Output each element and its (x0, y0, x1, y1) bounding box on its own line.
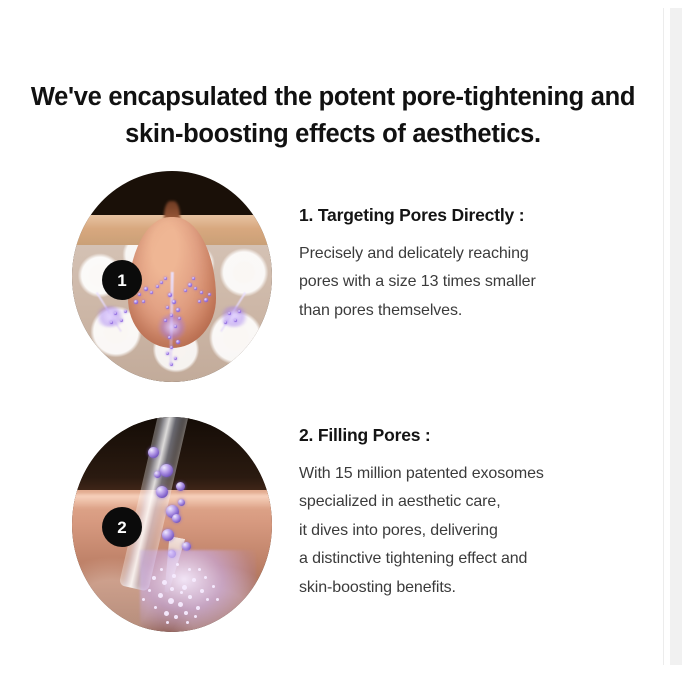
exosome-particle (168, 293, 172, 297)
exosome-particle (170, 363, 173, 366)
exosome-particle (164, 319, 167, 322)
step-2-body-line: it dives into pores, delivering (299, 517, 629, 545)
exosome-particle (198, 300, 201, 303)
step-1-title: 1. Targeting Pores Directly : (299, 205, 629, 226)
spray-particle (172, 574, 176, 578)
page-edge-divider (663, 8, 664, 665)
step-1-badge: 1 (102, 260, 142, 300)
step-1-media: 1 (72, 171, 272, 382)
step-2-badge: 2 (102, 507, 142, 547)
spray-particle (142, 598, 145, 601)
spray-particle (196, 606, 200, 610)
spray-particle (152, 576, 156, 580)
exosome-particle (144, 287, 148, 291)
exosome-particle (156, 285, 159, 288)
exosome-particle (170, 346, 173, 349)
step-2-body-line: With 15 million patented exosomes (299, 460, 629, 488)
step-1-body: Precisely and delicately reaching pores … (299, 240, 629, 325)
exosome-particle (178, 317, 181, 320)
exosome-particle (164, 277, 167, 280)
spray-particle (200, 589, 204, 593)
exosome-particle (138, 293, 141, 296)
step-1-body-line: pores with a size 13 times smaller (299, 268, 629, 296)
exosome-particle (188, 283, 192, 287)
spray-particle (198, 568, 201, 571)
exosome-particle (124, 310, 127, 313)
spray-particle (166, 621, 169, 624)
step-2-body-line: skin-boosting benefits. (299, 574, 629, 602)
exosome-particle (174, 357, 177, 360)
spray-particle (148, 589, 151, 592)
exosome-particle (120, 319, 123, 322)
exosome-particle (160, 281, 163, 284)
exosome-particle (228, 312, 231, 315)
spray-particle (174, 615, 178, 619)
step-2-body-line: a distinctive tightening effect and (299, 545, 629, 573)
spray-particle (168, 598, 174, 604)
exosome-particle (238, 310, 241, 313)
spray-particle (162, 580, 167, 585)
spray-particle (204, 576, 207, 579)
step-2-body-line: specialized in aesthetic care, (299, 488, 629, 516)
spray-particle (164, 611, 169, 616)
spray-particle (160, 568, 163, 571)
page-root: We've encapsulated the potent pore-tight… (0, 0, 682, 682)
spray-particle (206, 598, 209, 601)
exosome-particle (204, 298, 208, 302)
exosome-particle (184, 289, 187, 292)
step-1-text: 1. Targeting Pores Directly : Precisely … (299, 205, 629, 325)
exosome-particle (134, 300, 138, 304)
step-1-body-line: than pores themselves. (299, 297, 629, 325)
spray-particle (176, 563, 179, 566)
spray-particle (154, 606, 157, 609)
spray-particle (158, 593, 163, 598)
step-2-body: With 15 million patented exosomes specia… (299, 460, 629, 602)
exosome-particle (174, 325, 177, 328)
exosome-particle (170, 314, 173, 317)
exosome-particle (168, 336, 171, 339)
exosome-particle (194, 287, 197, 290)
page-edge-strip (670, 8, 682, 665)
exosome-particle (224, 321, 227, 324)
exosome-particle (114, 312, 117, 315)
exosome-particle (142, 300, 145, 303)
spray-particle (192, 578, 196, 582)
spray-particle (212, 585, 215, 588)
exosome-particle (110, 321, 113, 324)
exosome-particle (176, 308, 180, 312)
exosome-particle (192, 277, 195, 280)
step-2-text: 2. Filling Pores : With 15 million paten… (299, 425, 629, 602)
exosome-particle (166, 306, 169, 309)
spray-particle (180, 591, 183, 594)
spray-particle (188, 595, 192, 599)
page-headline: We've encapsulated the potent pore-tight… (18, 79, 648, 153)
step-1-body-line: Precisely and delicately reaching (299, 240, 629, 268)
spray-particle (194, 615, 197, 618)
exosome-particle (176, 340, 180, 344)
exosome-particle (172, 300, 176, 304)
spray-particle (184, 611, 188, 615)
spray-particle (216, 598, 219, 601)
spray-particle (188, 568, 191, 571)
exosome-particle (150, 291, 153, 294)
exosome-particle (208, 293, 211, 296)
spray-particle (170, 587, 174, 591)
exosome-particle (166, 352, 169, 355)
exosome-particle (200, 291, 203, 294)
step-2-title: 2. Filling Pores : (299, 425, 629, 446)
step-2-media: 2 (72, 417, 272, 632)
exosome-particle (234, 319, 237, 322)
spray-particle (178, 602, 183, 607)
spray-particle (186, 621, 189, 624)
spray-particle (182, 585, 187, 590)
